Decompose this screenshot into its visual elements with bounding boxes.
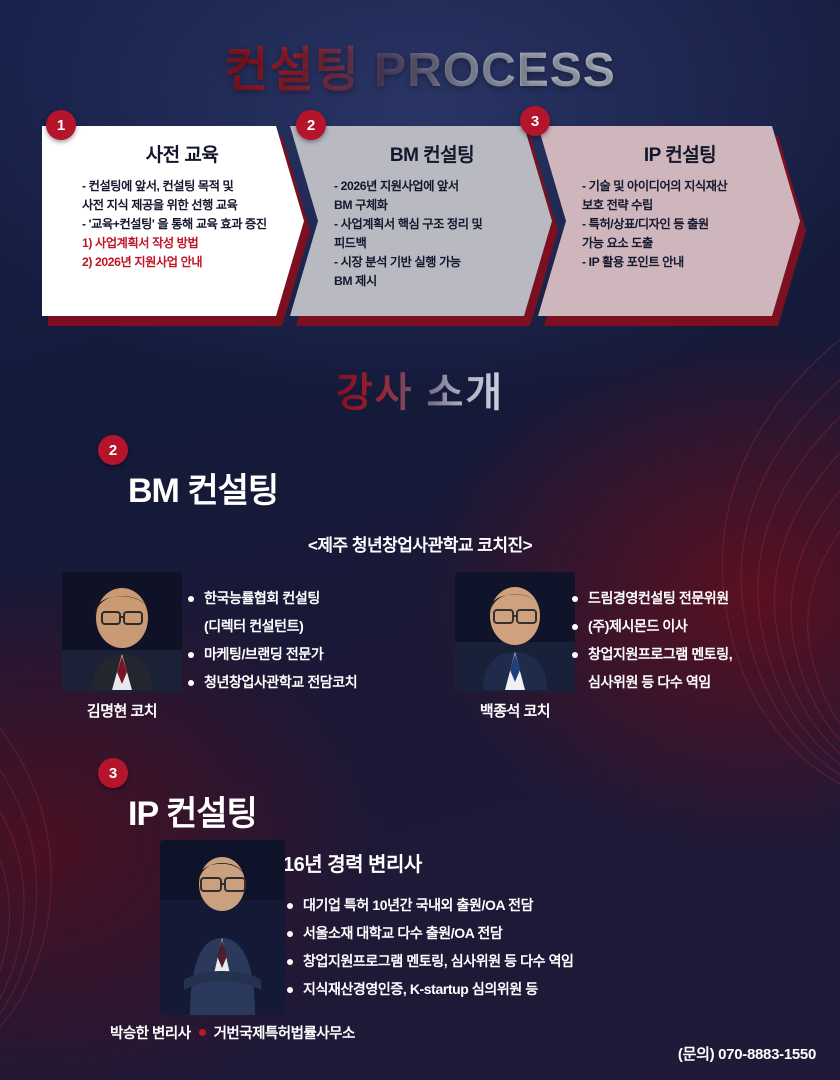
list-item: - '교육+컨설팅' 을 통해 교육 효과 증진 [82, 215, 282, 233]
avatar-coach-2 [455, 572, 575, 692]
separator-dot-icon [199, 1029, 206, 1036]
ip-section-title: IP 컨설팅 [128, 786, 257, 835]
step-number-badge-1: 1 [46, 110, 76, 140]
coach-2-name: 백종석 코치 [435, 700, 595, 721]
instructor-section-title-text: 강사 소개 [336, 371, 504, 415]
instructor-section-title: 강사 소개 [0, 360, 840, 418]
list-item: (디렉터 컨설턴트) [186, 616, 411, 637]
coach-1-name: 김명현 코치 [42, 700, 202, 721]
step-number-badge-3: 3 [520, 106, 550, 136]
avatar-ip-attorney-image [160, 840, 285, 1015]
avatar-coach-1 [62, 572, 182, 692]
ip-section-subtitle: 16년 경력 변리사 [283, 848, 422, 877]
process-step-2-list: - 2026년 지원사업에 앞서 BM 구체화 - 사업계획서 핵심 구조 정리… [334, 177, 530, 290]
avatar-coach-2-image [455, 572, 575, 692]
list-item: - 사업계획서 핵심 구조 정리 및 [334, 215, 530, 233]
process-step-2-content: BM 컨설팅 - 2026년 지원사업에 앞서 BM 구체화 - 사업계획서 핵… [324, 140, 530, 290]
process-step-3: IP 컨설팅 - 기술 및 아이디어의 지식재산 보호 전략 수립 - 특허/상… [538, 126, 800, 316]
bm-section-badge: 2 [98, 435, 128, 465]
list-item: 1) 사업계획서 작성 방법 [82, 234, 282, 252]
list-item: 보호 전략 수립 [582, 196, 778, 214]
footer-contact: (문의) 070-8883-1550 [678, 1043, 816, 1064]
process-step-2-title: BM 컨설팅 [334, 140, 530, 167]
step-number-badge-2: 2 [296, 110, 326, 140]
coach-2-bullets: 드림경영컨설팅 전문위원 (주)제시몬드 이사 창업지원프로그램 멘토링, 심사… [570, 588, 810, 700]
process-step-1-content: 사전 교육 - 컨설팅에 앞서, 컨설팅 목적 및 사전 지식 제공을 위한 선… [76, 140, 282, 271]
list-item: BM 구체화 [334, 196, 530, 214]
list-item: 가능 요소 도출 [582, 234, 778, 252]
list-item: 대기업 특허 10년간 국내외 출원/OA 전담 [285, 895, 745, 916]
process-step-3-title: IP 컨설팅 [582, 140, 778, 167]
avatar-ip-attorney [160, 840, 285, 1015]
poster-title-text: 컨설팅 PROCESS [216, 30, 624, 100]
list-item: - 시장 분석 기반 실행 가능 [334, 253, 530, 271]
list-item: 창업지원프로그램 멘토링, [570, 644, 810, 665]
list-item: 사전 지식 제공을 위한 선행 교육 [82, 196, 282, 214]
process-row: 사전 교육 - 컨설팅에 앞서, 컨설팅 목적 및 사전 지식 제공을 위한 선… [42, 118, 798, 323]
process-step-3-content: IP 컨설팅 - 기술 및 아이디어의 지식재산 보호 전략 수립 - 특허/상… [572, 140, 778, 271]
poster-title-korean: 컨설팅 [224, 44, 359, 97]
list-item: - 기술 및 아이디어의 지식재산 [582, 177, 778, 195]
ip-attorney-name-row: 박승한 변리사 거번국제특허법률사무소 [110, 1022, 440, 1043]
poster-root: 컨설팅 PROCESS 사전 교육 - 컨설팅에 앞서, 컨설팅 목적 및 사전… [0, 0, 840, 1080]
ip-attorney-firm: 거번국제특허법률사무소 [214, 1022, 355, 1043]
list-item: 2) 2026년 지원사업 안내 [82, 253, 282, 271]
process-step-3-list: - 기술 및 아이디어의 지식재산 보호 전략 수립 - 특허/상표/디자인 등… [582, 177, 778, 271]
list-item: (주)제시몬드 이사 [570, 616, 810, 637]
list-item: 서울소재 대학교 다수 출원/OA 전담 [285, 923, 745, 944]
ip-bullets: 대기업 특허 10년간 국내외 출원/OA 전담 서울소재 대학교 다수 출원/… [285, 895, 745, 1007]
list-item: - 2026년 지원사업에 앞서 [334, 177, 530, 195]
coach-1-bullets: 한국능률협회 컨설팅 (디렉터 컨설턴트) 마케팅/브랜딩 전문가 청년창업사관… [186, 588, 411, 700]
list-item: 지식재산경영인증, K-startup 심의위원 등 [285, 979, 745, 1000]
list-item: 창업지원프로그램 멘토링, 심사위원 등 다수 역임 [285, 951, 745, 972]
list-item: 드림경영컨설팅 전문위원 [570, 588, 810, 609]
bm-section-subtitle: <제주 청년창업사관학교 코치진> [0, 531, 840, 556]
poster-title-english: PROCESS [374, 44, 616, 97]
list-item: BM 제시 [334, 272, 530, 290]
process-step-1-title: 사전 교육 [82, 140, 282, 167]
ip-attorney-name: 박승한 변리사 [110, 1022, 191, 1043]
process-step-2: BM 컨설팅 - 2026년 지원사업에 앞서 BM 구체화 - 사업계획서 핵… [290, 126, 552, 316]
list-item: 피드백 [334, 234, 530, 252]
list-item: 청년창업사관학교 전담코치 [186, 672, 411, 693]
poster-title: 컨설팅 PROCESS [0, 30, 840, 100]
process-step-1: 사전 교육 - 컨설팅에 앞서, 컨설팅 목적 및 사전 지식 제공을 위한 선… [42, 126, 304, 316]
process-step-1-list: - 컨설팅에 앞서, 컨설팅 목적 및 사전 지식 제공을 위한 선행 교육 -… [82, 177, 282, 271]
list-item: - IP 활용 포인트 안내 [582, 253, 778, 271]
list-item: 마케팅/브랜딩 전문가 [186, 644, 411, 665]
list-item: - 특허/상표/디자인 등 출원 [582, 215, 778, 233]
list-item: 한국능률협회 컨설팅 [186, 588, 411, 609]
list-item: - 컨설팅에 앞서, 컨설팅 목적 및 [82, 177, 282, 195]
avatar-coach-1-image [62, 572, 182, 692]
ip-section-badge: 3 [98, 758, 128, 788]
bm-section-title: BM 컨설팅 [128, 463, 278, 512]
list-item: 심사위원 등 다수 역임 [570, 672, 810, 693]
